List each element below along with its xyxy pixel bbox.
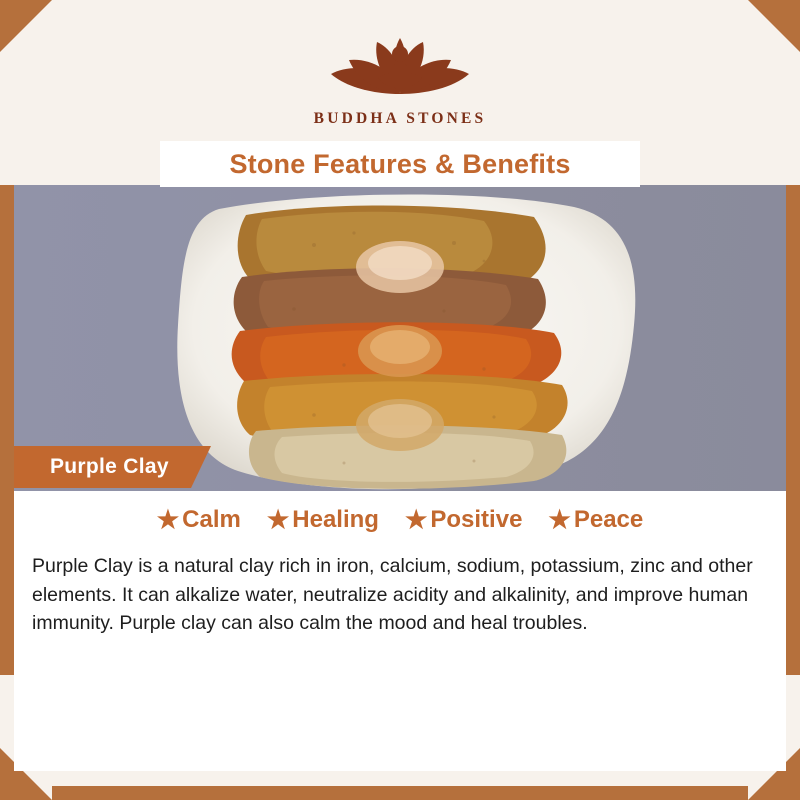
benefit-label: Positive xyxy=(430,506,522,534)
benefit-item: ★ Calm xyxy=(157,506,241,534)
product-name-tag: Purple Clay xyxy=(14,446,191,488)
benefit-item: ★ Positive xyxy=(405,506,522,534)
product-description: Purple Clay is a natural clay rich in ir… xyxy=(32,552,774,638)
star-icon: ★ xyxy=(548,508,570,533)
benefit-label: Calm xyxy=(182,506,241,534)
star-icon: ★ xyxy=(405,508,427,533)
page-title-text: Stone Features & Benefits xyxy=(229,149,570,180)
right-accent-bar xyxy=(786,185,800,675)
poster-canvas: BUDDHA STONES Stone Features & Benefits xyxy=(0,0,800,800)
benefit-item: ★ Healing xyxy=(267,506,379,534)
star-icon: ★ xyxy=(157,508,179,533)
star-icon: ★ xyxy=(267,508,289,533)
benefit-label: Healing xyxy=(292,506,379,534)
bottom-accent-bar xyxy=(52,786,748,800)
benefit-item: ★ Peace xyxy=(548,506,643,534)
page-title: Stone Features & Benefits xyxy=(160,141,640,187)
lotus-meditation-icon xyxy=(305,16,495,108)
benefit-label: Peace xyxy=(574,506,643,534)
benefits-list: ★ Calm ★ Healing ★ Positive ★ Peace xyxy=(14,506,786,534)
left-accent-bar xyxy=(0,185,14,675)
product-name-text: Purple Clay xyxy=(50,455,169,479)
brand-name: BUDDHA STONES xyxy=(314,110,487,128)
brand-logo: BUDDHA STONES xyxy=(0,16,800,142)
